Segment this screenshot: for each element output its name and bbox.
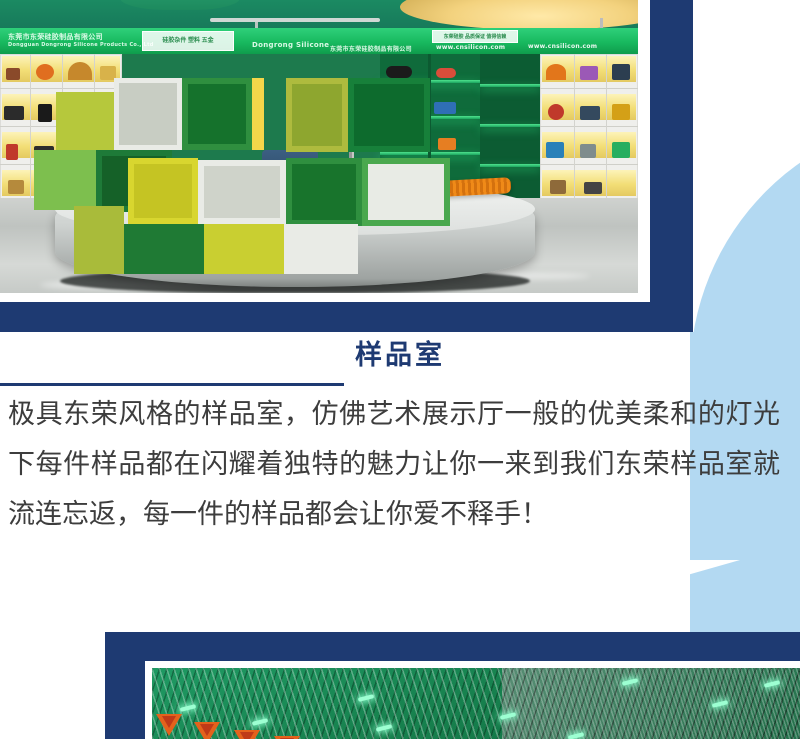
cube-white-1	[114, 78, 182, 150]
sign-text: www.cnsilicon.com	[436, 44, 505, 51]
sign-text: 硅胶杂件 塑料 五金	[143, 32, 233, 50]
sign-text: Dongguan Dongrong Silicone Products Co.,…	[8, 42, 154, 48]
cube-lime-1	[34, 150, 96, 210]
cube-green-1	[182, 78, 252, 150]
pennant-flag	[234, 730, 260, 739]
body-paragraph: 极具东荣风格的样品室，仿佛艺术展示厅一般的优美柔和的灯光下每件样品都在闪耀着独特…	[8, 390, 780, 540]
workshop-ceiling-photo	[152, 668, 800, 739]
cube-olive-3	[74, 206, 124, 274]
right-display-shelf	[540, 54, 638, 204]
sign-panel: 东荣硅胶 品质保证 值得信赖	[432, 30, 518, 43]
cube-yellow-1	[128, 158, 198, 224]
signage-strip: 东莞市东荣硅胶制品有限公司 Dongguan Dongrong Silicone…	[0, 28, 638, 54]
white-wedge-mask	[0, 560, 740, 640]
showroom-photo: 东莞市东荣硅胶制品有限公司 Dongguan Dongrong Silicone…	[0, 0, 638, 293]
cube-white-3	[284, 224, 358, 274]
cube-green-2	[348, 78, 430, 152]
cube-white-2	[198, 160, 286, 224]
ceiling-pipe	[210, 18, 380, 22]
cube-olive-1	[56, 92, 114, 150]
title-underline-rule	[0, 383, 344, 386]
sign-panel: 硅胶杂件 塑料 五金	[142, 31, 234, 51]
cube-green-5	[362, 158, 450, 226]
sign-text: Dongrong Silicone	[252, 41, 329, 49]
cube-green-4	[286, 158, 362, 226]
sign-text: 东莞市东荣硅胶制品有限公司	[330, 44, 412, 53]
pennant-flag	[156, 714, 182, 736]
mesh-gray-highlight	[502, 668, 800, 739]
pennant-flag	[194, 722, 220, 739]
page-title: 样品室	[355, 336, 445, 376]
sign-text: www.cnsilicon.com	[528, 43, 597, 50]
sign-text: 东莞市东荣硅胶制品有限公司	[8, 32, 103, 42]
sign-text: 东荣硅胶 品质保证 值得信赖	[433, 31, 517, 43]
cube-yellow-2	[204, 224, 284, 274]
cube-yellow-edge	[252, 78, 264, 150]
cube-olive-2	[286, 78, 348, 152]
title-row: 样品室	[0, 336, 800, 382]
cube-green-6	[122, 224, 204, 274]
